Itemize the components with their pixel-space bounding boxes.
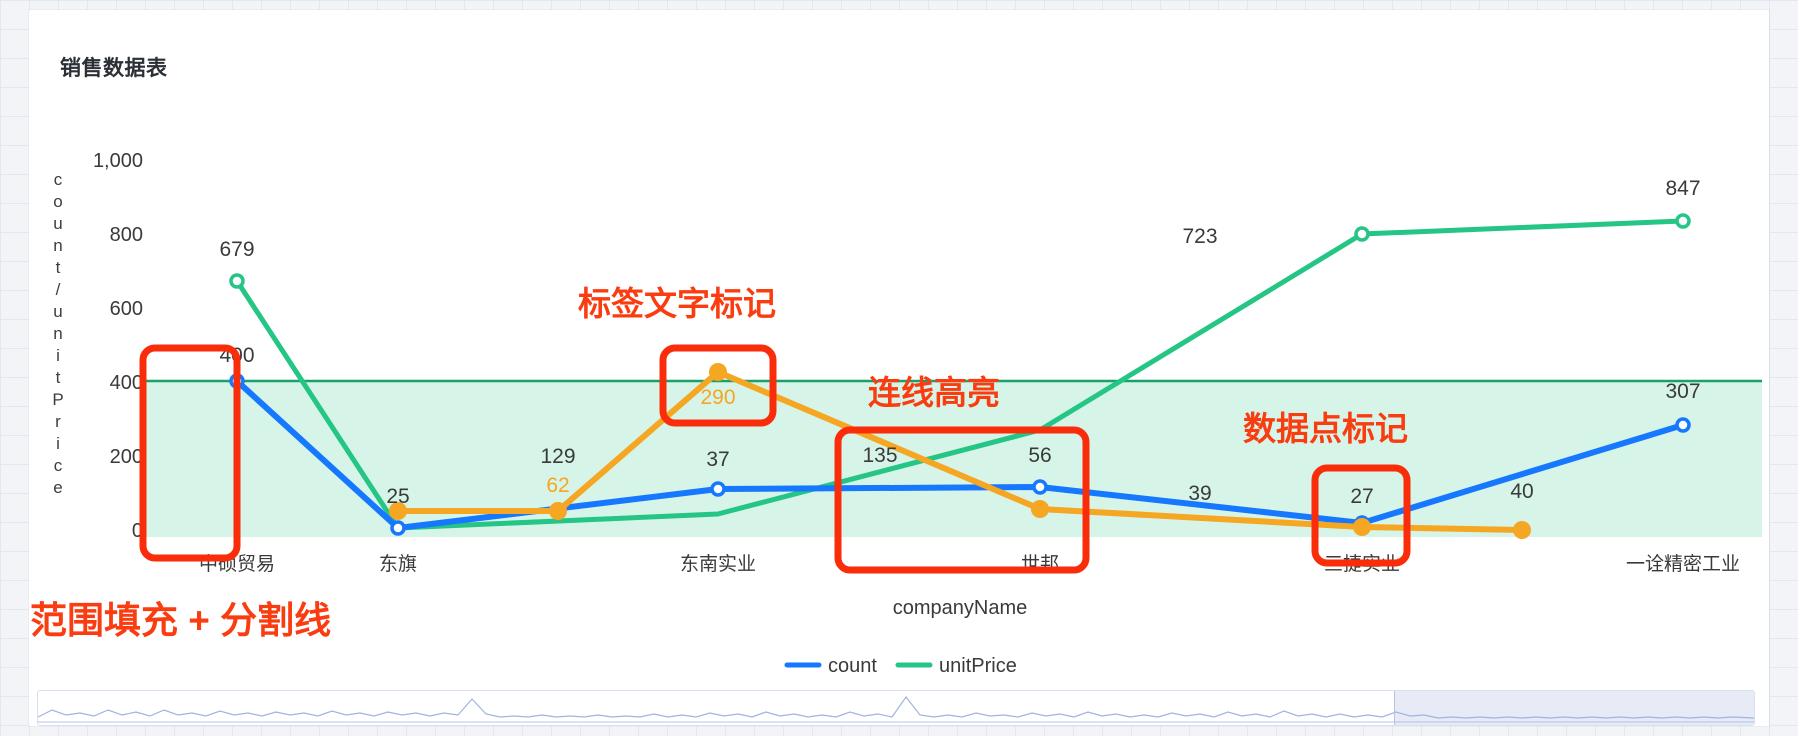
page-title: 销售数据表 <box>60 52 168 82</box>
datazoom-window-handle[interactable] <box>1394 691 1755 725</box>
chart-card: 销售数据表 <box>29 10 1769 726</box>
datazoom-slider[interactable] <box>37 690 1755 726</box>
